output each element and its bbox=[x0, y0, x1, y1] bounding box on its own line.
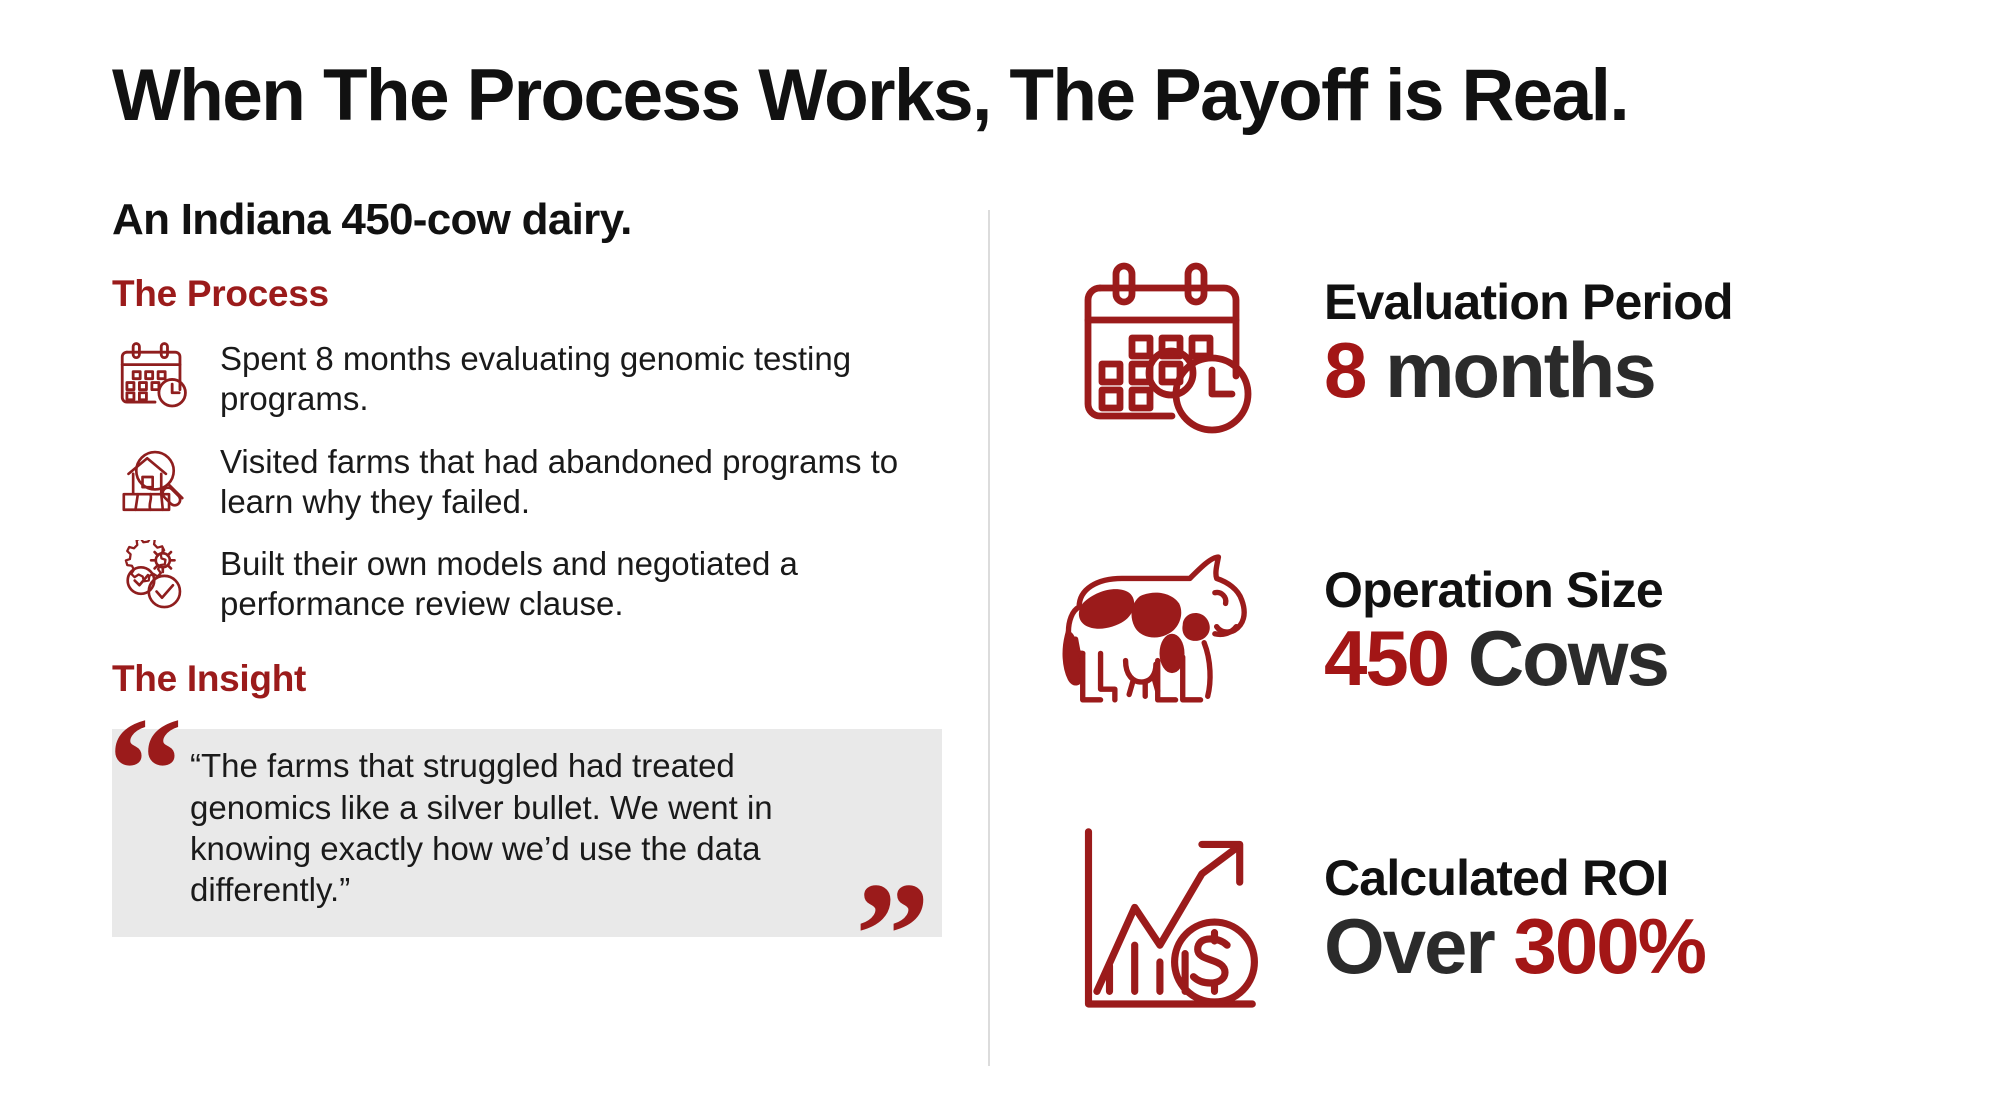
content-columns: An Indiana 450-cow dairy. The Process bbox=[0, 196, 2000, 1096]
stat-value-rest: Cows bbox=[1468, 614, 1668, 702]
gears-check-icon bbox=[112, 538, 198, 620]
stat-operation-size: Operation Size 450 Cows bbox=[1038, 488, 1958, 776]
list-item-text: Spent 8 months evaluating genomic testin… bbox=[220, 333, 920, 420]
growth-chart-dollar-icon bbox=[1038, 805, 1306, 1035]
stat-label: Operation Size bbox=[1324, 564, 1958, 617]
stat-value: 450 Cows bbox=[1324, 618, 1958, 700]
page-title: When The Process Works, The Payoff is Re… bbox=[112, 58, 1912, 135]
magnifier-farm-icon bbox=[112, 436, 198, 518]
list-item-text: Visited farms that had abandoned program… bbox=[220, 436, 920, 523]
list-item: Built their own models and negotiated a … bbox=[112, 538, 952, 625]
stat-label: Calculated ROI bbox=[1324, 852, 1958, 905]
calendar-clock-icon bbox=[1038, 229, 1306, 459]
left-column: An Indiana 450-cow dairy. The Process bbox=[112, 196, 952, 942]
process-bullet-list: Spent 8 months evaluating genomic testin… bbox=[112, 333, 952, 625]
process-heading: The Process bbox=[112, 274, 952, 315]
stat-body: Evaluation Period 8 months bbox=[1306, 276, 1958, 412]
insight-heading: The Insight bbox=[112, 659, 952, 700]
stat-value-highlight: 300% bbox=[1513, 902, 1705, 990]
stat-body: Operation Size 450 Cows bbox=[1306, 564, 1958, 700]
right-column: Evaluation Period 8 months bbox=[1038, 200, 1958, 1064]
stat-value-rest: months bbox=[1385, 326, 1655, 414]
quote-text: “The farms that struggled had treated ge… bbox=[190, 745, 880, 910]
stat-evaluation-period: Evaluation Period 8 months bbox=[1038, 200, 1958, 488]
stat-value: Over 300% bbox=[1324, 906, 1958, 988]
stat-value-highlight: 8 bbox=[1324, 326, 1365, 414]
quote-close-mark: ” bbox=[855, 860, 924, 1010]
stat-calculated-roi: Calculated ROI Over 300% bbox=[1038, 776, 1958, 1064]
stat-value-highlight: 450 bbox=[1324, 614, 1448, 702]
quote-open-mark: “ bbox=[108, 695, 177, 845]
subtitle: An Indiana 450-cow dairy. bbox=[112, 196, 952, 244]
quote-block: “ “The farms that struggled had treated … bbox=[112, 717, 942, 942]
list-item: Spent 8 months evaluating genomic testin… bbox=[112, 333, 952, 420]
stat-label: Evaluation Period bbox=[1324, 276, 1958, 329]
infographic-slide: When The Process Works, The Payoff is Re… bbox=[0, 0, 2000, 1116]
calendar-clock-icon bbox=[112, 333, 198, 415]
column-divider bbox=[988, 210, 990, 1066]
stat-value: 8 months bbox=[1324, 330, 1958, 412]
stat-value-rest: Over bbox=[1324, 902, 1494, 990]
cow-icon bbox=[1038, 517, 1306, 747]
stat-body: Calculated ROI Over 300% bbox=[1306, 852, 1958, 988]
list-item-text: Built their own models and negotiated a … bbox=[220, 538, 920, 625]
list-item: Visited farms that had abandoned program… bbox=[112, 436, 952, 523]
